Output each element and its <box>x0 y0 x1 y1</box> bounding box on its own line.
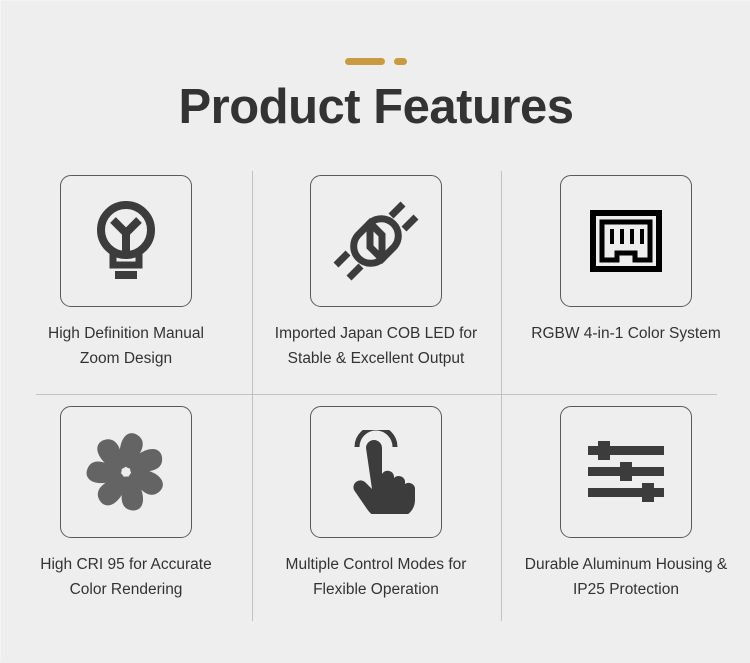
feature-caption-5: Multiple Control Modes for Flexible Oper… <box>258 552 494 602</box>
product-features-page: Product Features <box>1 1 750 663</box>
caption-line-2: Color Rendering <box>8 577 244 602</box>
ethernet-port-icon <box>590 210 662 272</box>
caption-line-2: Stable & Excellent Output <box>258 346 494 371</box>
sliders-icon <box>588 441 664 503</box>
icon-box-2 <box>310 175 442 307</box>
caption-line-1: Durable Aluminum Housing & <box>508 552 744 577</box>
feature-cell-4: High CRI 95 for Accurate Color Rendering <box>1 394 251 625</box>
page-title: Product Features <box>1 65 750 135</box>
hand-tap-icon <box>336 430 416 514</box>
page-header: Product Features <box>1 1 750 135</box>
title-ornament <box>1 1 750 65</box>
feature-caption-1: High Definition Manual Zoom Design <box>8 321 244 371</box>
feature-cell-2: Imported Japan COB LED for Stable & Exce… <box>251 163 501 394</box>
dash-short-icon <box>394 58 407 65</box>
caption-line-2: Flexible Operation <box>258 577 494 602</box>
feature-cell-3: RGBW 4-in-1 Color System <box>501 163 750 394</box>
icon-box-5 <box>310 406 442 538</box>
caption-line-1: High CRI 95 for Accurate <box>8 552 244 577</box>
feature-caption-3: RGBW 4-in-1 Color System <box>508 321 744 346</box>
dash-long-icon <box>345 58 385 65</box>
caption-line-2: IP25 Protection <box>508 577 744 602</box>
icon-box-1 <box>60 175 192 307</box>
caption-line-2: Zoom Design <box>8 346 244 371</box>
icon-box-3 <box>560 175 692 307</box>
feature-grid: High Definition Manual Zoom Design <box>1 163 750 625</box>
caption-line-1: High Definition Manual <box>8 321 244 346</box>
feature-caption-2: Imported Japan COB LED for Stable & Exce… <box>258 321 494 371</box>
plug-connector-icon <box>333 198 419 284</box>
caption-line-1: Multiple Control Modes for <box>258 552 494 577</box>
lightbulb-icon <box>87 198 165 284</box>
feature-cell-6: Durable Aluminum Housing & IP25 Protecti… <box>501 394 750 625</box>
feature-cell-1: High Definition Manual Zoom Design <box>1 163 251 394</box>
caption-line-1: Imported Japan COB LED for <box>258 321 494 346</box>
fan-pinwheel-icon <box>84 430 168 514</box>
caption-line-1: RGBW 4-in-1 Color System <box>508 321 744 346</box>
feature-cell-5: Multiple Control Modes for Flexible Oper… <box>251 394 501 625</box>
feature-caption-4: High CRI 95 for Accurate Color Rendering <box>8 552 244 602</box>
icon-box-6 <box>560 406 692 538</box>
icon-box-4 <box>60 406 192 538</box>
feature-caption-6: Durable Aluminum Housing & IP25 Protecti… <box>508 552 744 602</box>
